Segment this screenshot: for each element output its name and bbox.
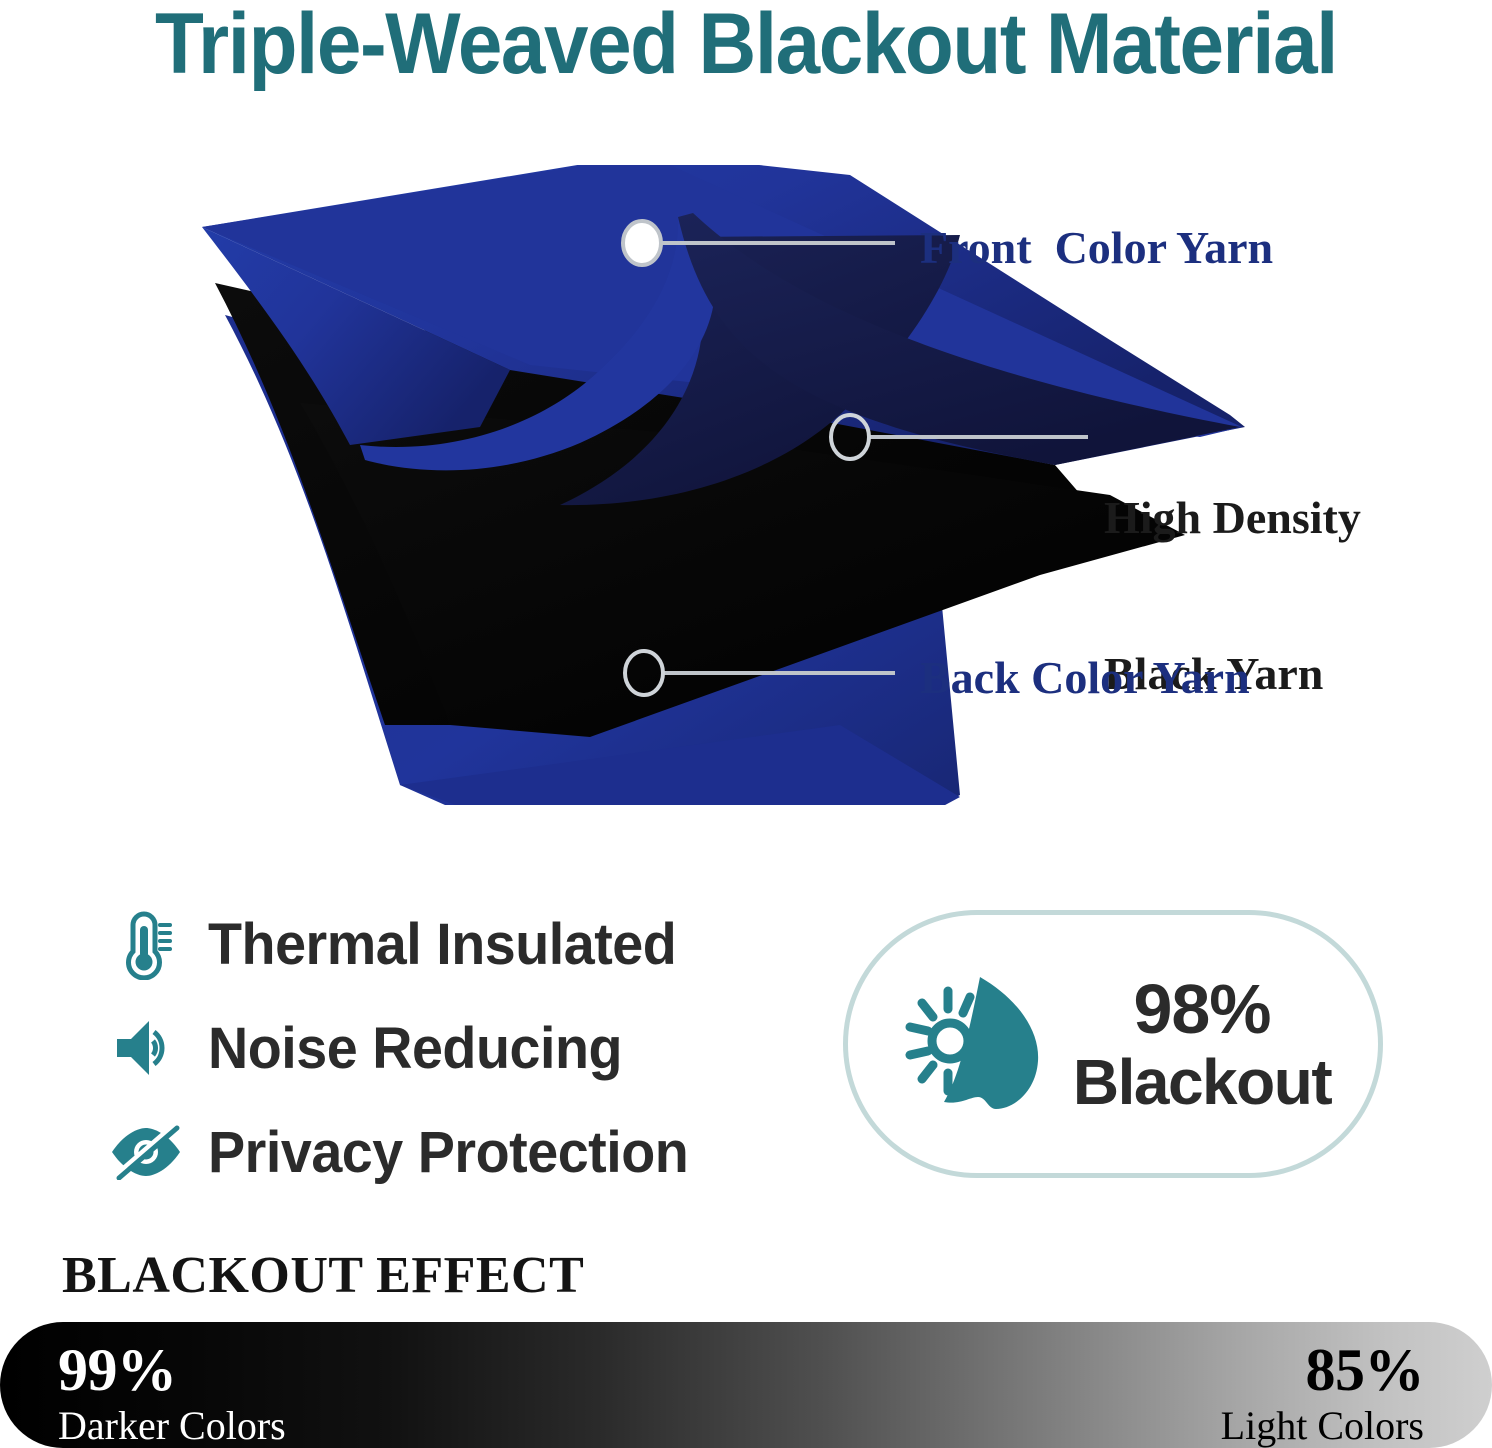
darker-colors-percent: 99% <box>58 1340 286 1400</box>
blackout-effect-gradient-bar: 99% Darker Colors 85% Light Colors <box>0 1322 1492 1448</box>
blackout-effect-light-colors: 85% Light Colors <box>1221 1340 1424 1446</box>
callout-label-back-color-yarn: Back Color Yarn <box>920 652 1250 704</box>
feature-list: Thermal Insulated Noise Reducing Privacy… <box>108 892 808 1204</box>
feature-noise-reducing: Noise Reducing <box>108 996 808 1100</box>
page-title: Triple-Weaved Blackout Material <box>52 0 1440 92</box>
eye-slash-icon <box>108 1114 184 1190</box>
feature-privacy-protection: Privacy Protection <box>108 1100 808 1204</box>
blackout-badge: 98% Blackout <box>843 910 1383 1178</box>
callout-label-front-color-yarn: Front Color Yarn <box>920 222 1273 274</box>
light-colors-caption: Light Colors <box>1221 1406 1424 1446</box>
blackout-effect-darker-colors: 99% Darker Colors <box>58 1340 286 1446</box>
light-colors-percent: 85% <box>1221 1340 1424 1400</box>
badge-word: Blackout <box>1073 1050 1331 1114</box>
badge-text: 98% Blackout <box>1073 974 1331 1114</box>
feature-label-privacy-protection: Privacy Protection <box>208 1119 688 1186</box>
speaker-volume-icon <box>108 1010 184 1086</box>
blackout-effect-heading: BLACKOUT EFFECT <box>62 1246 584 1305</box>
darker-colors-caption: Darker Colors <box>58 1406 286 1446</box>
sun-blocked-by-curtain-icon <box>895 964 1055 1124</box>
top-blue-sheet <box>202 165 1245 515</box>
feature-label-thermal-insulated: Thermal Insulated <box>208 911 676 978</box>
feature-label-noise-reducing: Noise Reducing <box>208 1015 622 1082</box>
badge-percent: 98% <box>1073 974 1331 1044</box>
callout-label-line-1: High Density <box>1104 492 1361 544</box>
thermometer-icon <box>108 906 184 982</box>
feature-thermal-insulated: Thermal Insulated <box>108 892 808 996</box>
